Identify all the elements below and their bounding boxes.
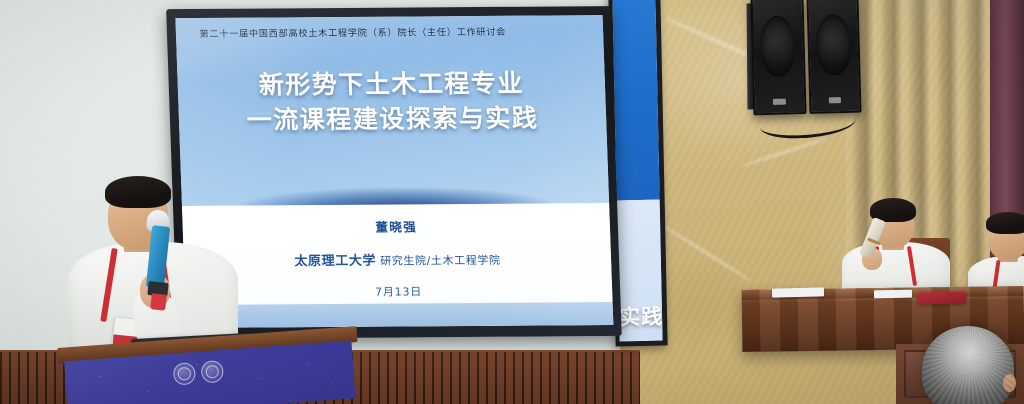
conference-scene: 实践 第二十一届中国西部高校土木工程学院（系）院长（主任）工作研讨会 新形势下土… (0, 0, 1024, 404)
slide-conference-header: 第二十一届中国西部高校土木工程学院（系）院长（主任）工作研讨会 (199, 23, 580, 40)
slide-title-line-2: 一流课程建设探索与实践 (178, 100, 606, 138)
loudspeaker-left (750, 0, 806, 115)
slide-main-title: 新形势下土木工程专业 一流课程建设探索与实践 (177, 65, 607, 139)
table-papers-left (772, 287, 824, 297)
side-monitor-text: 实践 (619, 300, 663, 331)
speaker-podium (58, 338, 362, 404)
slide-affiliation-university: 太原理工大学 (294, 253, 376, 269)
loudspeaker-right (806, 0, 862, 114)
slide-affiliation-department: 研究生院/土木工程学院 (380, 253, 501, 267)
table-red-folder (918, 292, 966, 305)
slide-footer-band (185, 302, 613, 328)
university-seal-right-icon (200, 360, 224, 384)
panelist-right-hair (986, 212, 1024, 234)
side-monitor-title-band (612, 0, 659, 201)
slide-affiliation: 太原理工大学 研究生院/土木工程学院 (184, 248, 612, 270)
university-seal-left-icon (173, 362, 197, 386)
slide-date: 7月13日 (185, 282, 613, 301)
table-papers-center (874, 290, 912, 299)
slide-title-line-1: 新形势下土木工程专业 (177, 65, 605, 103)
wall-loudspeakers (750, 0, 861, 115)
podium-caption (67, 378, 354, 399)
speaker-microphone-tail (150, 293, 167, 310)
speaker-hair (105, 176, 171, 208)
audience-foreground-head (922, 326, 1014, 404)
slide-presenter-name: 董晓强 (182, 215, 610, 237)
slide-surface: 第二十一届中国西部高校土木工程学院（系）院长（主任）工作研讨会 新形势下土木工程… (175, 15, 613, 328)
